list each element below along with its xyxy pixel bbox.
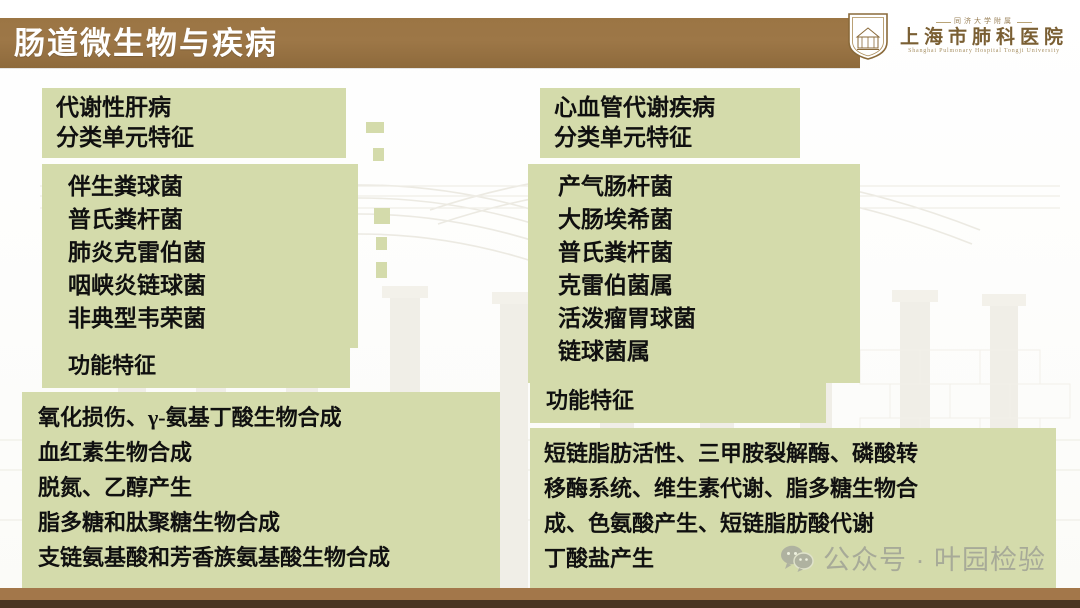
right-taxon-item: 克雷伯菌属 [558,269,860,302]
right-taxa-box: 产气肠杆菌 大肠埃希菌 普氏粪杆菌 克雷伯菌属 活泼瘤胃球菌 链球菌属 [528,164,860,383]
bottom-accent-bar [0,588,1080,600]
right-function-item: 成、色氨酸产生、短链脂肪酸代谢 [544,506,1056,541]
page-title: 肠道微生物与疾病 [14,20,278,68]
logo-hospital-name: 上海市肺科医院 [900,28,1068,47]
left-taxon-item: 伴生粪球菌 [68,170,358,203]
left-function-item: 氧化损伤、γ-氨基丁酸生物合成 [38,400,500,435]
wechat-watermark: 公众号 · 叶园检验 [780,538,1046,577]
divider-dot-4 [376,237,387,250]
left-function-item: 脂多糖和肽聚糖生物合成 [38,505,500,540]
left-heading-line2: 分类单元特征 [56,123,346,153]
left-taxon-item: 非典型韦荣菌 [68,302,358,335]
left-taxon-item: 咽峡炎链球菌 [68,269,358,302]
right-function-item: 移酶系统、维生素代谢、脂多糖生物合 [544,471,1056,506]
right-taxon-item: 产气肠杆菌 [558,170,860,203]
right-taxon-item: 大肠埃希菌 [558,203,860,236]
bottom-dark-bar [0,600,1080,608]
shield-emblem-icon [846,11,890,61]
left-function-header-box: 功能特征 [42,346,350,388]
divider-dot-2 [373,148,384,161]
left-taxon-item: 普氏粪杆菌 [68,203,358,236]
left-function-header: 功能特征 [68,350,350,382]
left-function-box: 氧化损伤、γ-氨基丁酸生物合成 血红素生物合成 脱氮、乙醇产生 脂多糖和肽聚糖生… [22,392,500,596]
left-taxon-item: 肺炎克雷伯菌 [68,236,358,269]
right-heading-box: 心血管代谢疾病 分类单元特征 [540,88,800,158]
watermark-text: 公众号 · 叶园检验 [823,538,1046,577]
divider-dot-5 [376,262,387,278]
right-taxon-item: 活泼瘤胃球菌 [558,302,860,335]
left-heading-box: 代谢性肝病 分类单元特征 [42,88,346,158]
right-taxon-item: 普氏粪杆菌 [558,236,860,269]
logo-affiliation: 同济大学附属 [936,18,1032,26]
right-function-header-box: 功能特征 [530,381,826,423]
hospital-logo: 同济大学附属 上海市肺科医院 Shanghai Pulmonary Hospit… [846,11,1068,61]
wechat-icon [780,544,814,572]
slide-canvas: 肠道微生物与疾病 同济大学附属 上海市肺科医院 Shanghai Pulmona… [0,0,1080,608]
left-function-item: 支链氨基酸和芳香族氨基酸生物合成 [38,540,500,575]
divider-dot-1 [366,122,384,133]
left-heading-line1: 代谢性肝病 [56,93,346,123]
right-heading-line1: 心血管代谢疾病 [554,93,800,123]
right-heading-line2: 分类单元特征 [554,123,800,153]
right-function-item: 短链脂肪活性、三甲胺裂解酶、磷酸转 [544,436,1056,471]
divider-dot-3 [374,208,390,224]
left-taxa-box: 伴生粪球菌 普氏粪杆菌 肺炎克雷伯菌 咽峡炎链球菌 非典型韦荣菌 [42,164,358,348]
left-function-item: 脱氮、乙醇产生 [38,470,500,505]
right-function-header: 功能特征 [546,385,826,417]
logo-hospital-name-en: Shanghai Pulmonary Hospital Tongji Unive… [908,48,1060,54]
left-function-item: 血红素生物合成 [38,435,500,470]
right-taxon-item: 链球菌属 [558,335,860,368]
